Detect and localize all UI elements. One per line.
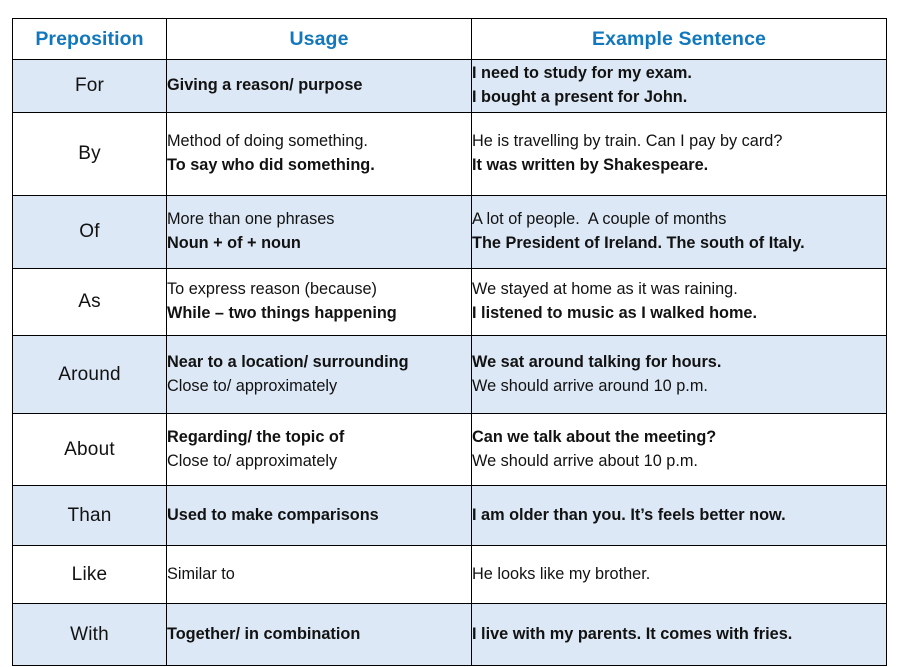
- example-cell: I live with my parents. It comes with fr…: [472, 604, 887, 666]
- usage-cell: Together/ in combination: [167, 604, 472, 666]
- page-root: Preposition Usage Example Sentence For G…: [0, 0, 900, 667]
- table-row: Around Near to a location/ surrounding C…: [13, 336, 887, 414]
- preposition-cell: About: [13, 414, 167, 486]
- column-header-preposition: Preposition: [13, 19, 167, 60]
- usage-cell: To express reason (because) While – two …: [167, 269, 472, 336]
- table-header: Preposition Usage Example Sentence: [13, 19, 887, 60]
- usage-cell: Giving a reason/ purpose: [167, 60, 472, 113]
- table-row: Like Similar to He looks like my brother…: [13, 546, 887, 604]
- example-line: I am older than you. It’s feels better n…: [472, 504, 886, 528]
- example-line: He is travelling by train. Can I pay by …: [472, 130, 886, 154]
- table-row: Than Used to make comparisons I am older…: [13, 486, 887, 546]
- usage-line: Similar to: [167, 563, 471, 587]
- example-line: The President of Ireland. The south of I…: [472, 232, 886, 256]
- usage-line: To say who did something.: [167, 154, 471, 178]
- example-line: A lot of people. A couple of months: [472, 208, 886, 232]
- example-line: We should arrive around 10 p.m.: [472, 375, 886, 399]
- preposition-cell: Around: [13, 336, 167, 414]
- preposition-cell: Of: [13, 196, 167, 269]
- usage-line: Near to a location/ surrounding: [167, 351, 471, 375]
- table-row: About Regarding/ the topic of Close to/ …: [13, 414, 887, 486]
- usage-cell: Similar to: [167, 546, 472, 604]
- example-line: I bought a present for John.: [472, 86, 886, 110]
- example-cell: He looks like my brother.: [472, 546, 887, 604]
- example-cell: A lot of people. A couple of months The …: [472, 196, 887, 269]
- example-cell: I need to study for my exam. I bought a …: [472, 60, 887, 113]
- table-row: As To express reason (because) While – t…: [13, 269, 887, 336]
- usage-line: More than one phrases: [167, 208, 471, 232]
- example-cell: He is travelling by train. Can I pay by …: [472, 113, 887, 196]
- example-line: I live with my parents. It comes with fr…: [472, 623, 886, 647]
- example-line: I need to study for my exam.: [472, 62, 886, 86]
- usage-line: Together/ in combination: [167, 623, 471, 647]
- example-cell: I am older than you. It’s feels better n…: [472, 486, 887, 546]
- preposition-cell: As: [13, 269, 167, 336]
- usage-cell: Used to make comparisons: [167, 486, 472, 546]
- example-line: It was written by Shakespeare.: [472, 154, 886, 178]
- preposition-cell: Than: [13, 486, 167, 546]
- usage-line: Close to/ approximately: [167, 450, 471, 474]
- example-cell: Can we talk about the meeting? We should…: [472, 414, 887, 486]
- table-header-row: Preposition Usage Example Sentence: [13, 19, 887, 60]
- usage-line: Regarding/ the topic of: [167, 426, 471, 450]
- example-line: Can we talk about the meeting?: [472, 426, 886, 450]
- example-line: I listened to music as I walked home.: [472, 302, 886, 326]
- usage-line: Method of doing something.: [167, 130, 471, 154]
- prepositions-table: Preposition Usage Example Sentence For G…: [12, 18, 887, 666]
- table-body: For Giving a reason/ purpose I need to s…: [13, 60, 887, 666]
- usage-cell: Method of doing something. To say who di…: [167, 113, 472, 196]
- usage-line: Used to make comparisons: [167, 504, 471, 528]
- table-row: With Together/ in combination I live wit…: [13, 604, 887, 666]
- preposition-cell: With: [13, 604, 167, 666]
- usage-line: Giving a reason/ purpose: [167, 74, 471, 98]
- column-header-usage: Usage: [167, 19, 472, 60]
- example-line: We stayed at home as it was raining.: [472, 278, 886, 302]
- example-cell: We stayed at home as it was raining. I l…: [472, 269, 887, 336]
- preposition-cell: By: [13, 113, 167, 196]
- usage-cell: Regarding/ the topic of Close to/ approx…: [167, 414, 472, 486]
- example-cell: We sat around talking for hours. We shou…: [472, 336, 887, 414]
- example-line: We sat around talking for hours.: [472, 351, 886, 375]
- preposition-cell: For: [13, 60, 167, 113]
- usage-line: While – two things happening: [167, 302, 471, 326]
- table-row: For Giving a reason/ purpose I need to s…: [13, 60, 887, 113]
- table-row: By Method of doing something. To say who…: [13, 113, 887, 196]
- example-line: He looks like my brother.: [472, 563, 886, 587]
- table-row: Of More than one phrases Noun + of + nou…: [13, 196, 887, 269]
- usage-line: To express reason (because): [167, 278, 471, 302]
- usage-cell: Near to a location/ surrounding Close to…: [167, 336, 472, 414]
- usage-cell: More than one phrases Noun + of + noun: [167, 196, 472, 269]
- column-header-example-sentence: Example Sentence: [472, 19, 887, 60]
- example-line: We should arrive about 10 p.m.: [472, 450, 886, 474]
- usage-line: Close to/ approximately: [167, 375, 471, 399]
- preposition-cell: Like: [13, 546, 167, 604]
- usage-line: Noun + of + noun: [167, 232, 471, 256]
